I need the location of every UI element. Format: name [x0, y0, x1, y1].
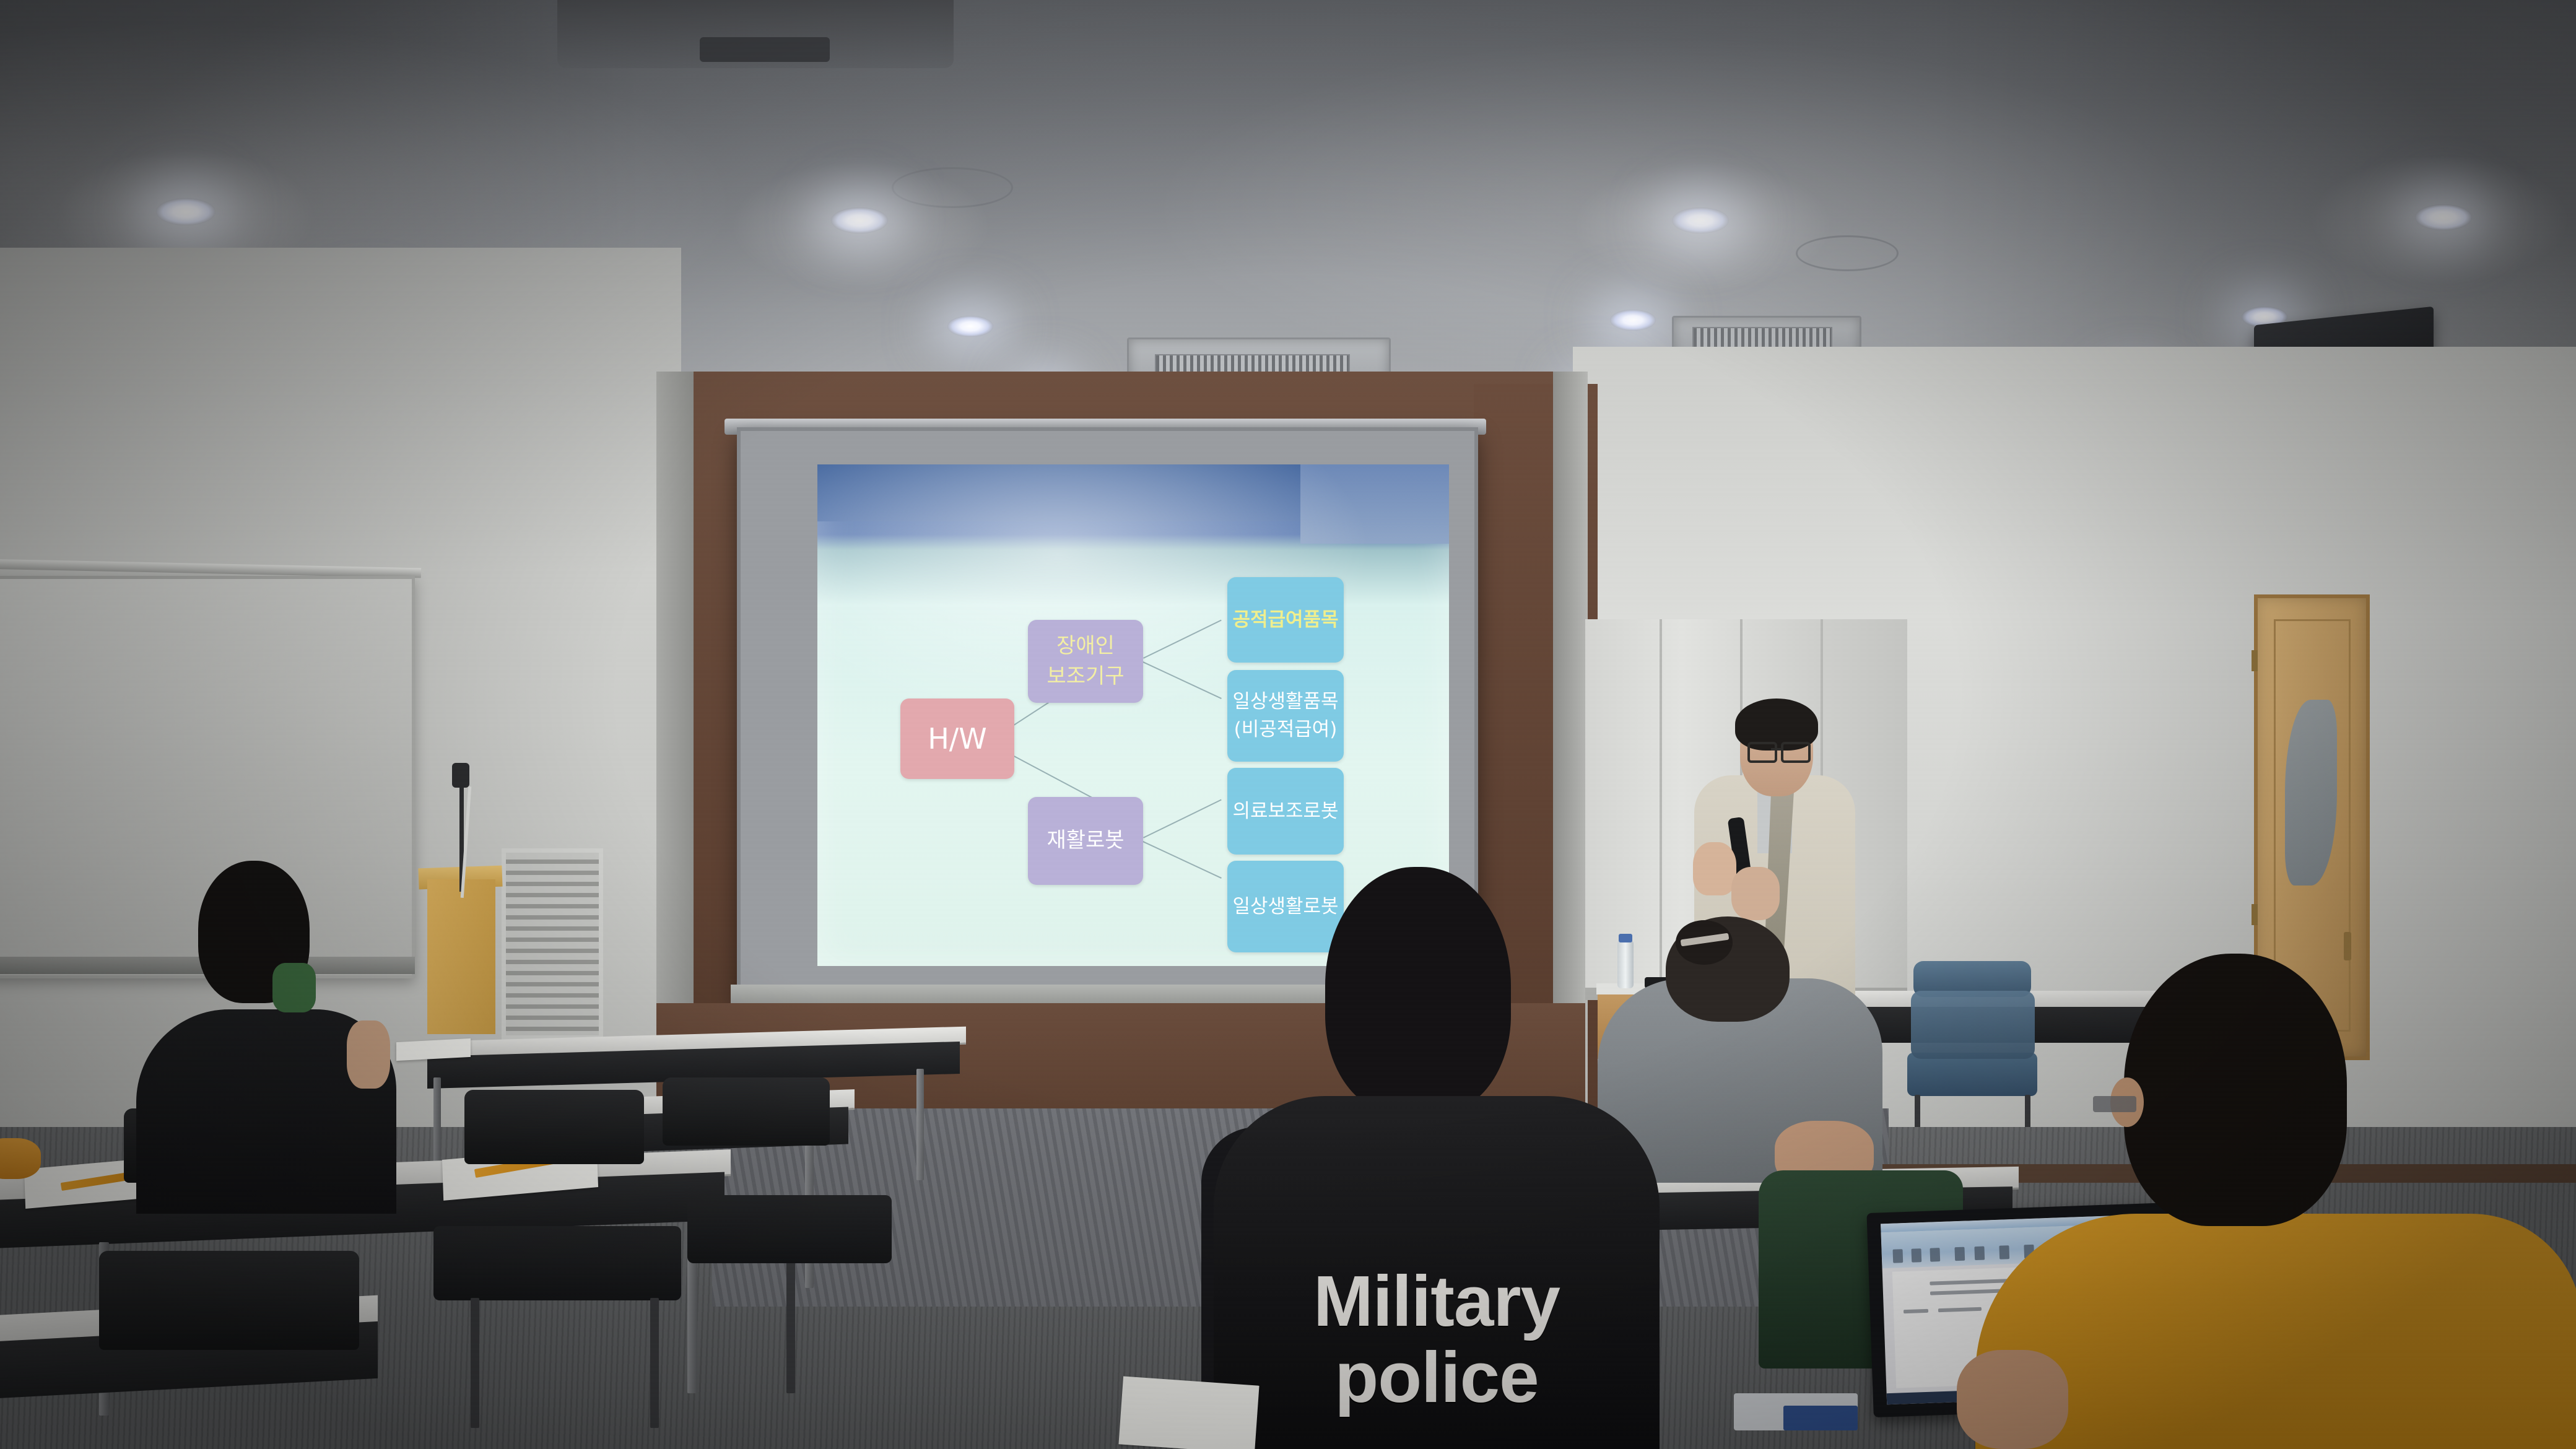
node-branch1-line1: 장애인: [1056, 631, 1115, 661]
paper-near-mp[interactable]: [1118, 1376, 1259, 1449]
ceiling-light-7: [1610, 310, 1656, 331]
node-root-label: H/W: [928, 718, 987, 760]
node-leaf2-line1: 일상생활품목: [1232, 688, 1338, 716]
notebook-on-desk[interactable]: [396, 1038, 471, 1061]
node-branch2-line1: 재활로봇: [1046, 825, 1124, 856]
blue-chair-seat[interactable]: [1907, 1053, 2037, 1096]
orange-bag[interactable]: [0, 1138, 41, 1179]
attendee-yellow-shirt-head: [2124, 954, 2347, 1226]
chair-3[interactable]: [663, 1077, 830, 1146]
node-root-hw[interactable]: H/W: [900, 698, 1014, 779]
jacket-text-line-2: police: [1232, 1339, 1641, 1416]
attendee-mp-jacket-text: Military police: [1232, 1263, 1641, 1416]
blue-chair-backrest[interactable]: [1911, 991, 2035, 1059]
node-leaf3-line1: 의료보조로봇: [1232, 798, 1338, 825]
door-hinge-top: [2252, 650, 2258, 671]
node-leaf1-line1: 공적급여품목: [1232, 606, 1338, 634]
node-leaf4-line1: 일상생활로봇: [1232, 893, 1338, 921]
ceiling-light-6: [947, 316, 993, 337]
presenter-right-hand: [1731, 867, 1780, 920]
chair-5-leg-2: [650, 1298, 659, 1428]
presenter-glasses-right-lens: [1781, 742, 1811, 763]
node-branch-rehab-robot[interactable]: 재활로봇: [1028, 797, 1143, 885]
presenter-glasses-left-lens: [1747, 742, 1777, 763]
classroom-photo-scene: H/W 장애인 보조기구 재활로봇 공적급여품목 일상생활품목 (비공적급여) …: [0, 0, 2576, 1449]
node-branch1-line2: 보조기구: [1046, 661, 1124, 692]
light-glow-3: [1573, 161, 1833, 291]
door-hinge-bottom: [2252, 904, 2258, 925]
door-handle[interactable]: [2344, 932, 2351, 960]
microphone-head-icon: [452, 763, 469, 788]
chair-2[interactable]: [464, 1090, 644, 1164]
chair-5-leg-1: [471, 1298, 479, 1428]
wall-louver-vent: [502, 848, 603, 1040]
light-glow-2: [731, 161, 991, 291]
ceiling-projector-mount: [700, 37, 830, 62]
node-leaf2-line2: (비공적급여): [1234, 716, 1338, 744]
attendee-black-shirt-item: [272, 963, 316, 1012]
light-glow-4: [2310, 155, 2570, 285]
water-bottle[interactable]: [1617, 940, 1634, 988]
chair-6-leg: [786, 1251, 795, 1393]
chair-4[interactable]: [99, 1251, 359, 1350]
presenter-left-hand: [1693, 842, 1736, 895]
podium: [427, 879, 495, 1034]
node-leaf-daily-life-items[interactable]: 일상생활품목 (비공적급여): [1227, 670, 1344, 762]
node-leaf-daily-life-robot[interactable]: 일상생활로봇: [1227, 861, 1344, 952]
node-branch-assistive-devices[interactable]: 장애인 보조기구: [1028, 620, 1143, 703]
jacket-text-line-1: Military: [1232, 1263, 1641, 1339]
chair-6-seat[interactable]: [687, 1195, 892, 1263]
attendee-yellow-glasses-arm: [2093, 1096, 2136, 1112]
chair-5-seat[interactable]: [433, 1226, 681, 1300]
node-leaf-public-benefit-items[interactable]: 공적급여품목: [1227, 577, 1344, 663]
attendee-mp-head: [1325, 867, 1511, 1115]
attendee-black-shirt-hand: [347, 1020, 390, 1089]
presenter-glasses-bridge: [1771, 748, 1783, 751]
item-on-desk-blue[interactable]: [1783, 1406, 1858, 1430]
node-leaf-medical-assist-robot[interactable]: 의료보조로봇: [1227, 768, 1344, 855]
attendee-yellow-hand: [1957, 1350, 2068, 1449]
water-bottle-cap[interactable]: [1619, 934, 1632, 942]
door-glass-window: [2285, 700, 2337, 885]
